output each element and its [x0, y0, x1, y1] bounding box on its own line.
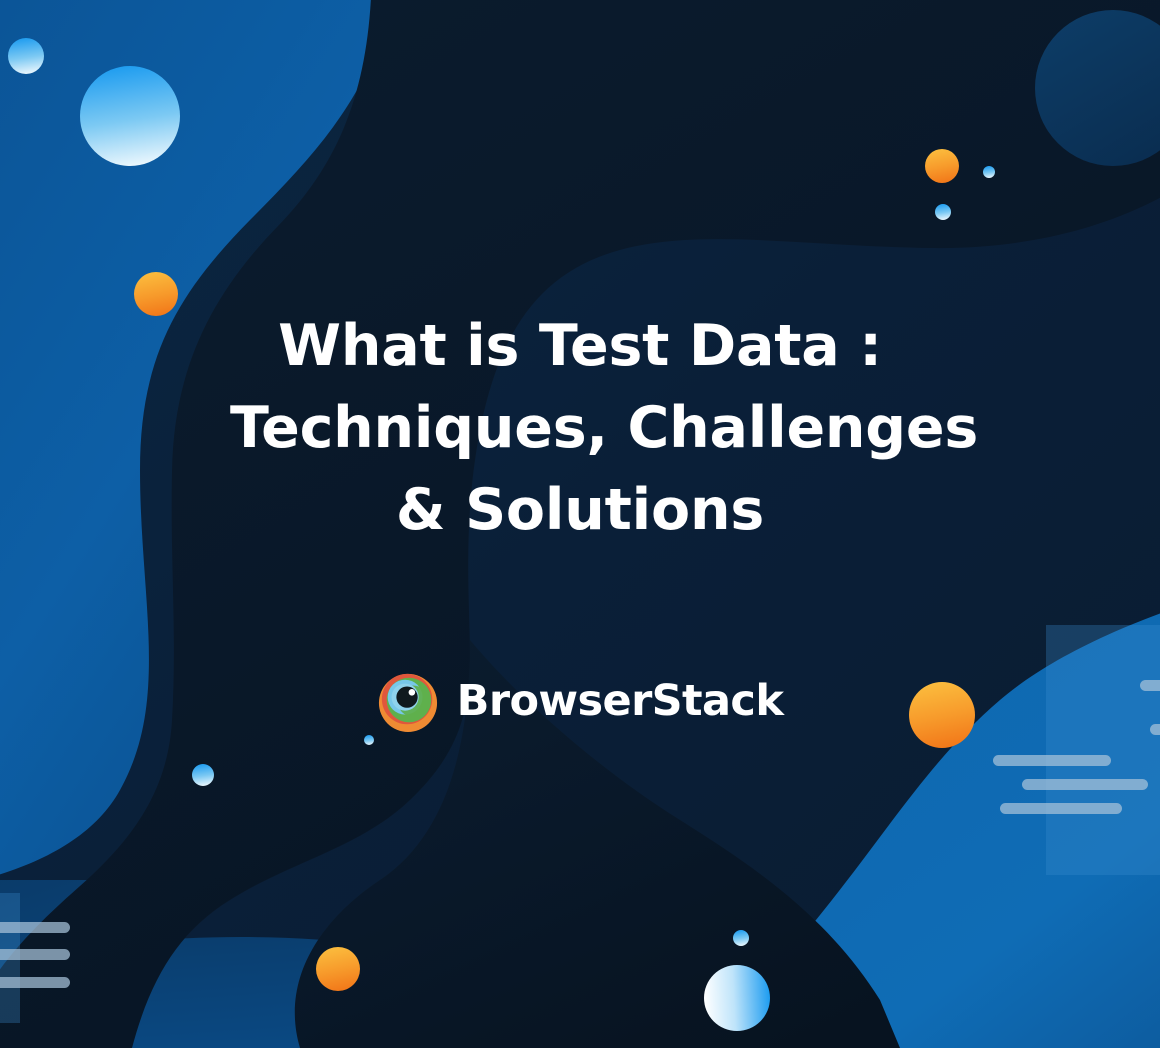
- dot-bottom-small: [733, 930, 749, 946]
- circle-bottom-blue: [704, 965, 770, 1031]
- card-bottom-right: [1046, 625, 1160, 875]
- browserstack-wordmark: BrowserStack: [457, 680, 784, 723]
- bar-right-1: [1140, 680, 1160, 691]
- title-line-1: What is Test Data :: [230, 305, 930, 387]
- bar-right-3: [993, 755, 1111, 766]
- circle-top-left-large: [80, 66, 180, 166]
- circle-bottom-orange: [316, 947, 360, 991]
- dot-center-tiny: [364, 735, 374, 745]
- circle-left-orange: [134, 272, 178, 316]
- circle-right-orange: [909, 682, 975, 748]
- bar-left-3: [0, 977, 70, 988]
- logo-highlight: [408, 689, 415, 696]
- card-bottom-right-group: [1046, 625, 1160, 875]
- bar-left-2: [0, 949, 70, 960]
- logo-pupil: [396, 686, 417, 707]
- browserstack-eye-logo-icon: [377, 670, 439, 732]
- dot-top-right-orange: [925, 149, 959, 183]
- bars-bottom-left: [0, 922, 70, 988]
- title-line-2: Techniques, Challenges: [230, 387, 930, 469]
- dot-top-left-small: [8, 38, 44, 74]
- dot-top-right-small: [935, 204, 951, 220]
- bar-left-1: [0, 922, 70, 933]
- browserstack-logo-lockup: BrowserStack: [377, 670, 784, 732]
- bar-right-5: [1000, 803, 1122, 814]
- dot-center-small: [192, 764, 214, 786]
- title-line-3: & Solutions: [230, 469, 930, 551]
- bar-right-4: [1022, 779, 1148, 790]
- poster-canvas: What is Test Data : Techniques, Challeng…: [0, 0, 1160, 1048]
- page-title: What is Test Data : Techniques, Challeng…: [230, 305, 930, 551]
- dot-top-right-tiny: [983, 166, 995, 178]
